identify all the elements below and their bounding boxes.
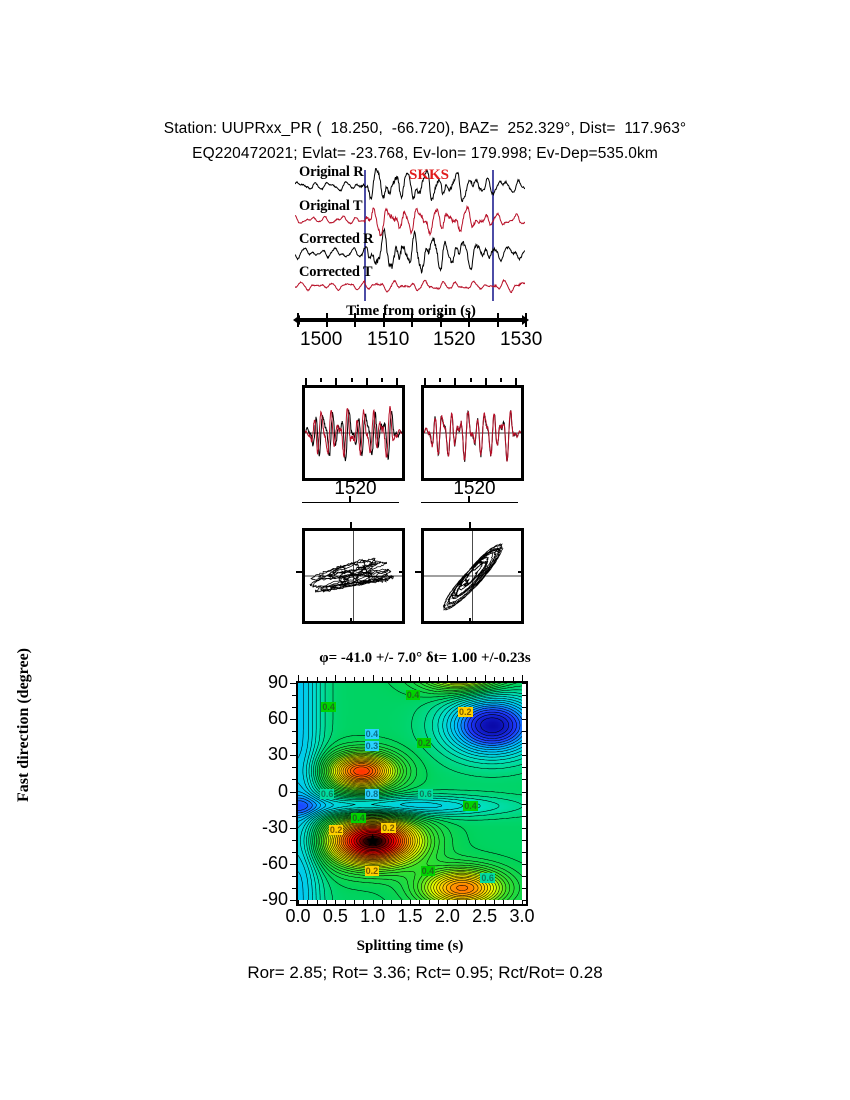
- contour-x-tick: [513, 900, 514, 904]
- contour-value-label: 0.4: [351, 813, 366, 823]
- contour-value-label: 0.3: [365, 741, 380, 751]
- contour-y-tick: [292, 876, 296, 877]
- splitting-error-surface: 0.40.40.20.40.30.20.60.80.60.40.40.20.20…: [296, 681, 528, 906]
- contour-x-tick: [475, 677, 476, 681]
- time-axis-tick: [440, 321, 442, 327]
- zoom-panel-right-tick-label: 1520: [426, 478, 523, 500]
- contour-x-tick: [475, 900, 476, 904]
- pm-axis-tick: [469, 618, 471, 624]
- particle-motion-path-original: [305, 531, 402, 621]
- contour-y-tick: [522, 900, 528, 901]
- contour-value-label: 0.4: [463, 801, 478, 811]
- contour-x-tick: [419, 900, 420, 904]
- contour-y-tick: [292, 767, 296, 768]
- figure-header: Station: UUPRxx_PR ( 18.250, -66.720), B…: [0, 116, 850, 166]
- contour-y-tick: [292, 852, 296, 853]
- contour-y-tick-label: -90: [242, 889, 288, 910]
- contour-y-tick: [522, 792, 528, 793]
- contour-y-tick: [292, 779, 296, 780]
- splitting-result-title: φ= -41.0 +/- 7.0° δt= 1.00 +/-0.23s: [225, 650, 625, 667]
- contour-x-tick: [317, 900, 318, 904]
- time-axis-tick-label: 1520: [433, 329, 475, 351]
- time-axis-tick: [326, 321, 328, 327]
- contour-y-tick: [522, 707, 526, 708]
- zoom-axis-tick: [381, 378, 383, 382]
- contour-value-label: 0.2: [329, 825, 344, 835]
- contour-y-tick: [290, 792, 296, 793]
- pm-axis-tick: [350, 522, 352, 528]
- contour-x-tick: [466, 900, 467, 904]
- contour-value-label: 0.4: [365, 729, 380, 739]
- zoom-axis-tick: [351, 378, 353, 382]
- contour-y-tick-label: -60: [242, 853, 288, 874]
- pm-axis-tick: [518, 571, 524, 573]
- zoom-axis-tick: [470, 378, 472, 382]
- contour-x-tick: [447, 675, 448, 681]
- zoom-traces-corrected: [424, 388, 521, 478]
- quality-stats-line: Ror= 2.85; Rot= 3.36; Rct= 0.95; Rct/Rot…: [0, 963, 850, 983]
- contour-x-tick: [494, 677, 495, 681]
- trace-label-original-t: Original T: [299, 198, 362, 215]
- contour-y-axis-title: Fast direction (degree): [15, 625, 33, 825]
- zoom-axis-center-tick: [349, 496, 351, 503]
- contour-x-tick: [363, 677, 364, 681]
- contour-y-tick: [292, 816, 296, 817]
- time-axis-tick: [411, 321, 413, 327]
- contour-x-tick: [457, 900, 458, 904]
- trace-label-original-r: Original R: [299, 164, 363, 181]
- contour-x-tick: [335, 675, 336, 681]
- contour-y-tick: [522, 852, 526, 853]
- phase-label-skks: SKKS: [409, 167, 449, 184]
- contour-y-tick: [522, 731, 526, 732]
- header-line-event: EQ220472021; Evlat= -23.768, Ev-lon= 179…: [0, 141, 850, 166]
- contour-x-tick: [410, 675, 411, 681]
- contour-value-label: 0.4: [421, 866, 436, 876]
- zoom-axis-tick: [500, 378, 502, 382]
- contour-y-tick-label: 90: [242, 672, 288, 693]
- contour-x-tick-label: 3.0: [500, 906, 544, 927]
- zoom-axis-tick: [485, 378, 487, 385]
- contour-y-tick: [292, 695, 296, 696]
- zoom-axis-tick: [335, 378, 337, 385]
- contour-x-tick: [307, 900, 308, 904]
- contour-y-tick: [522, 779, 526, 780]
- zoom-axis-tick: [515, 378, 517, 385]
- contour-y-tick: [522, 876, 526, 877]
- contour-x-tick: [466, 677, 467, 681]
- contour-x-tick: [307, 677, 308, 681]
- contour-value-label: 0.2: [417, 738, 432, 748]
- contour-y-tick: [522, 719, 528, 720]
- contour-value-label: 0.2: [458, 707, 473, 717]
- contour-x-tick: [345, 900, 346, 904]
- pm-axis-tick: [350, 618, 352, 624]
- contour-x-tick: [391, 677, 392, 681]
- contour-value-label: 0.2: [381, 823, 396, 833]
- contour-y-tick: [290, 755, 296, 756]
- zoom-traces-uncorrected: [305, 388, 402, 478]
- contour-x-tick: [513, 677, 514, 681]
- contour-y-tick: [290, 864, 296, 865]
- contour-x-tick: [382, 677, 383, 681]
- contour-x-tick: [438, 900, 439, 904]
- zoom-axis-tick: [366, 378, 368, 385]
- time-axis-tick-labels: 1500151015201530: [270, 329, 560, 353]
- trace-label-corrected-r: Corrected R: [299, 231, 373, 248]
- contour-x-tick: [522, 675, 523, 681]
- contour-y-tick: [290, 683, 296, 684]
- contour-x-tick: [298, 675, 299, 681]
- contour-x-tick: [401, 900, 402, 904]
- pm-path: [310, 558, 393, 592]
- pm-path: [443, 544, 503, 610]
- contour-x-tick: [503, 900, 504, 904]
- contour-x-tick: [373, 675, 374, 681]
- contour-x-tick: [429, 900, 430, 904]
- time-axis-tick: [468, 321, 470, 327]
- contour-y-tick: [522, 864, 528, 865]
- contour-x-tick: [391, 900, 392, 904]
- contour-x-tick: [485, 675, 486, 681]
- contour-x-tick: [457, 677, 458, 681]
- zoom-panel-uncorrected: [302, 385, 405, 481]
- contour-y-tick: [290, 900, 296, 901]
- contour-y-tick: [290, 719, 296, 720]
- contour-y-tick: [522, 755, 528, 756]
- contour-y-tick: [292, 707, 296, 708]
- pm-axis-tick: [469, 522, 471, 528]
- contour-x-tick: [354, 677, 355, 681]
- contour-value-label: 0.2: [365, 866, 380, 876]
- contour-y-tick: [292, 804, 296, 805]
- contour-y-tick: [522, 816, 526, 817]
- contour-x-axis-title: Splitting time (s): [300, 938, 520, 955]
- contour-x-tick: [382, 900, 383, 904]
- contour-y-tick: [522, 767, 526, 768]
- contour-value-label: 0.4: [321, 702, 336, 712]
- zoom-axis-tick: [396, 378, 398, 385]
- time-axis-tick-label: 1510: [367, 329, 409, 351]
- contour-y-tick: [522, 683, 528, 684]
- contour-y-tick: [522, 743, 526, 744]
- zoom-axis-tick: [424, 378, 426, 385]
- contour-x-tick: [326, 900, 327, 904]
- time-axis-tick: [497, 321, 499, 327]
- trace-label-corrected-t: Corrected T: [299, 264, 372, 281]
- contour-y-tick: [292, 888, 296, 889]
- contour-y-tick: [522, 804, 526, 805]
- waveform-trace: [295, 280, 525, 293]
- contour-value-label: 0.6: [320, 789, 335, 799]
- time-axis-title: Time from origin (s): [295, 303, 527, 320]
- contour-value-label: 0.8: [365, 789, 380, 799]
- contour-x-tick: [494, 900, 495, 904]
- contour-y-tick: [522, 695, 526, 696]
- contour-y-tick-label: 60: [242, 708, 288, 729]
- time-axis-tick: [383, 321, 385, 327]
- contour-x-tick: [401, 677, 402, 681]
- contour-value-label: 0.6: [418, 789, 433, 799]
- zoom-axis-tick: [439, 378, 441, 382]
- contour-x-tick: [326, 677, 327, 681]
- contour-y-tick-label: -30: [242, 817, 288, 838]
- pm-axis-tick: [296, 571, 302, 573]
- particle-motion-path-corrected: [424, 531, 521, 621]
- contour-value-label: 0.4: [406, 690, 421, 700]
- contour-y-tick-label: 30: [242, 744, 288, 765]
- time-axis-tick: [297, 321, 299, 327]
- contour-y-tick: [292, 840, 296, 841]
- contour-x-tick: [503, 677, 504, 681]
- time-axis-tick: [354, 321, 356, 327]
- zoom-panel-left-tick-label: 1520: [307, 478, 404, 500]
- contour-x-tick: [438, 677, 439, 681]
- zoom-axis-tick: [305, 378, 307, 385]
- contour-y-tick-label: 0: [242, 781, 288, 802]
- contour-y-tick: [290, 828, 296, 829]
- time-axis-tick-label: 1530: [500, 329, 542, 351]
- contour-x-tick: [354, 900, 355, 904]
- zoom-axis-tick: [454, 378, 456, 385]
- time-axis-tick: [525, 321, 527, 327]
- pm-axis-tick: [399, 571, 405, 573]
- particle-motion-original: [302, 528, 405, 624]
- contour-y-tick: [522, 888, 526, 889]
- contour-x-tick: [317, 677, 318, 681]
- zoom-axis-center-tick: [468, 496, 470, 503]
- contour-y-tick: [292, 731, 296, 732]
- zoom-axis-tick: [320, 378, 322, 382]
- pm-axis-tick: [415, 571, 421, 573]
- contour-x-tick: [419, 677, 420, 681]
- contour-y-tick: [522, 828, 528, 829]
- contour-x-tick: [345, 677, 346, 681]
- time-axis-tick-label: 1500: [300, 329, 342, 351]
- contour-y-tick: [292, 743, 296, 744]
- header-line-station: Station: UUPRxx_PR ( 18.250, -66.720), B…: [0, 116, 850, 141]
- contour-x-tick: [429, 677, 430, 681]
- contour-y-tick: [522, 840, 526, 841]
- zoom-panel-corrected: [421, 385, 524, 481]
- waveform-panel: Original R Original T Corrected R Correc…: [295, 168, 525, 303]
- particle-motion-corrected: [421, 528, 524, 624]
- contour-x-tick: [363, 900, 364, 904]
- contour-value-label: 0.6: [480, 873, 495, 883]
